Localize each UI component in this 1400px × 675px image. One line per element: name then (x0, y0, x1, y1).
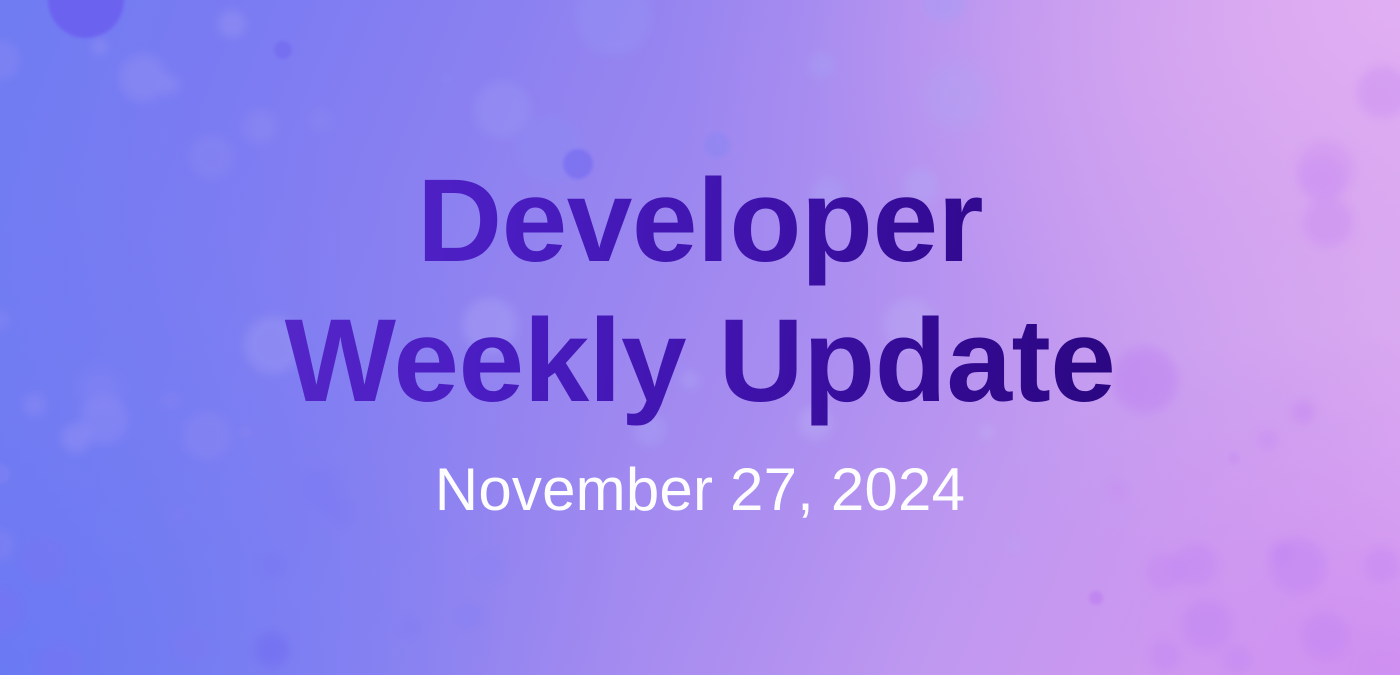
slide-content: Developer Weekly Update November 27, 202… (0, 0, 1400, 675)
page-title: Developer Weekly Update (285, 152, 1116, 430)
slide-canvas: Developer Weekly Update November 27, 202… (0, 0, 1400, 675)
title-line-2: Weekly Update (285, 292, 1116, 431)
title-line-1: Developer (285, 152, 1116, 291)
slide-subtitle-date: November 27, 2024 (435, 457, 965, 523)
